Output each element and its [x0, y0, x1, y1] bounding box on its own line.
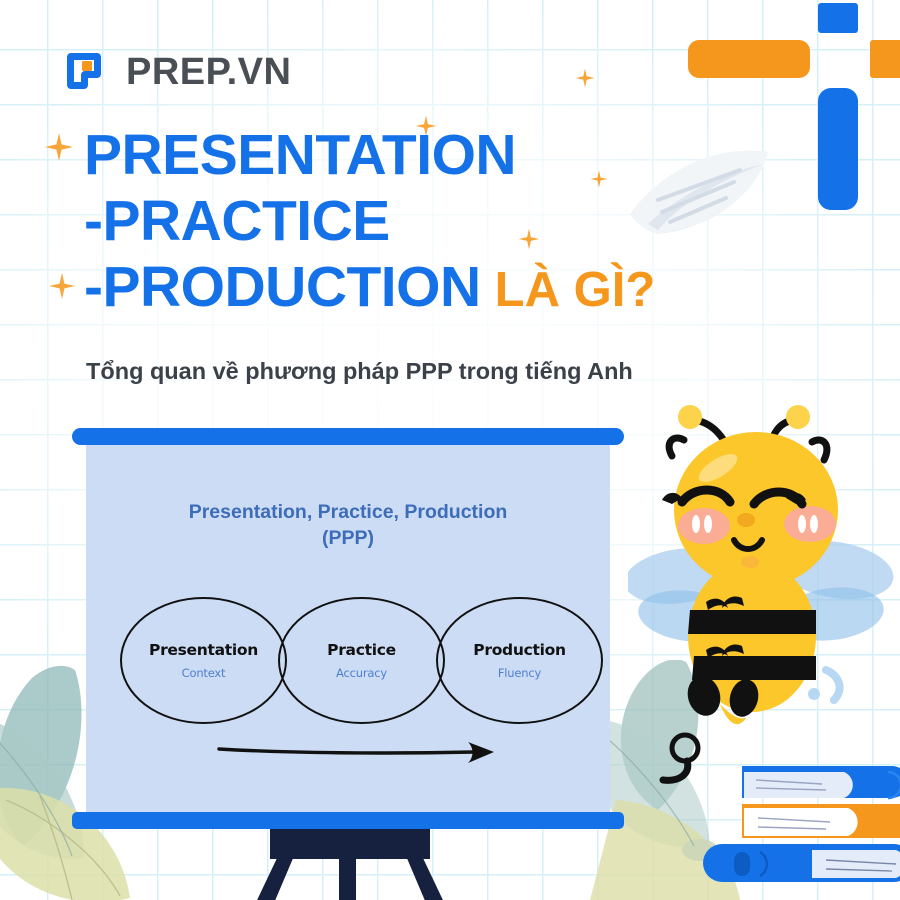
stage-circle-presentation: Presentation Context	[120, 597, 287, 724]
book-stack-icon	[700, 758, 900, 900]
bee-mascot-icon	[628, 398, 896, 750]
ppp-stage-diagram: Presentation Context Practice Accuracy P…	[120, 597, 600, 722]
brand-name: PREP.VN	[126, 53, 291, 91]
stage-name: Production	[473, 641, 565, 659]
easel-stand	[72, 826, 624, 900]
headline-line-1: PRESENTATION	[84, 128, 824, 184]
sparkle-star-icon	[44, 132, 74, 167]
stage-circle-production: Production Fluency	[436, 597, 603, 724]
poster-canvas: PREP.VN PRESENTATION -PRACTICE	[0, 0, 900, 900]
whiteboard-top-frame	[72, 428, 624, 445]
page-subtitle: Tổng quan về phương pháp PPP trong tiếng…	[86, 358, 633, 385]
stage-name: Presentation	[149, 641, 258, 659]
stage-focus: Fluency	[498, 666, 541, 680]
headline-line-3: -PRODUCTIONLÀ GÌ?	[84, 260, 824, 316]
stage-focus: Accuracy	[336, 666, 387, 680]
flow-arrow-icon	[216, 737, 506, 772]
stage-name: Practice	[327, 641, 396, 659]
page-title: PRESENTATION -PRACTICE -PRODUCTIONLÀ GÌ?	[84, 128, 824, 316]
stage-focus: Context	[182, 666, 226, 680]
sparkle-star-icon	[575, 68, 595, 93]
headline-accent: LÀ GÌ?	[495, 263, 656, 317]
whiteboard: Presentation, Practice, Production (PPP)…	[72, 428, 624, 900]
whiteboard-title: Presentation, Practice, Production (PPP)	[86, 500, 610, 551]
sparkle-star-icon	[48, 272, 76, 305]
headline-line-3-text: -PRODUCTION	[84, 255, 481, 319]
prep-logo-icon	[63, 47, 113, 97]
whiteboard-surface: Presentation, Practice, Production (PPP)…	[86, 445, 610, 815]
whiteboard-title-line-1: Presentation, Practice, Production	[86, 500, 610, 526]
whiteboard-title-line-2: (PPP)	[86, 526, 610, 552]
headline-line-2: -PRACTICE	[84, 194, 824, 250]
stage-circle-practice: Practice Accuracy	[278, 597, 445, 724]
brand-logo[interactable]: PREP.VN	[63, 47, 291, 97]
